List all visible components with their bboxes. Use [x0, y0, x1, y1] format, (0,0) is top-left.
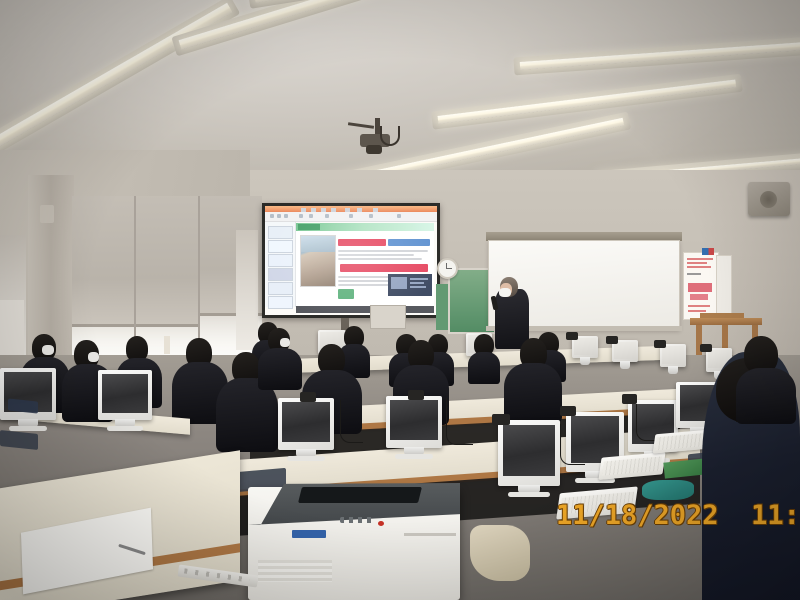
window-blind-1[interactable] [72, 196, 134, 324]
teal-cloth [642, 480, 694, 500]
red-notice-poster [683, 252, 719, 320]
cable [636, 404, 657, 441]
slide-thumbnail[interactable] [268, 268, 293, 281]
wall-speaker [748, 182, 790, 216]
cable [446, 398, 473, 445]
projector-cable [380, 126, 400, 146]
webcam [300, 392, 316, 402]
poster-color-tab [702, 248, 714, 255]
classroom-photo: 11/18/2022 11:53 [0, 0, 800, 600]
cable [340, 400, 363, 443]
slide-header-label [298, 224, 320, 230]
webcam [700, 344, 712, 352]
beige-cloth [470, 525, 530, 581]
webcam [408, 390, 424, 400]
slide-subhead-band-1 [388, 239, 430, 246]
pillar-cap [40, 205, 54, 223]
slide-thumbnail[interactable] [268, 296, 293, 309]
podium-table [690, 318, 762, 325]
projected-slide [265, 206, 437, 315]
monitor-front-2 [386, 396, 442, 448]
printer-output-tray [298, 487, 422, 503]
face-mask-icon [280, 338, 290, 347]
cable [560, 424, 585, 465]
printer-vents [258, 560, 332, 582]
slide-thumbnail[interactable] [268, 254, 293, 267]
slide-headline-band-2 [340, 264, 428, 272]
slide-thumbnail[interactable] [268, 282, 293, 295]
printer-label [292, 530, 326, 538]
webcam [622, 394, 637, 404]
camera-date-stamp: 11/18/2022 11:53 [556, 500, 800, 531]
webcam [654, 340, 666, 348]
slide-content [296, 223, 434, 306]
slide-corner-widget [388, 274, 432, 296]
slide-thumbnail[interactable] [268, 226, 293, 239]
slide-building-photo [300, 235, 336, 287]
secondary-poster [716, 255, 732, 315]
slide-button-green[interactable] [338, 289, 354, 299]
slide-thumbnail-panel [265, 222, 296, 307]
webcam [566, 332, 578, 340]
equipment-box [370, 305, 406, 329]
webcam [492, 414, 510, 425]
monitor-front-1 [278, 398, 334, 450]
slide-taskbar [296, 306, 434, 313]
wall-clock [437, 258, 458, 279]
printer-paper-slot [404, 533, 456, 536]
monitor-front-3 [498, 420, 560, 486]
face-mask-icon [499, 288, 511, 297]
window-blind-2[interactable] [136, 196, 198, 324]
window-right-of-screen [236, 230, 258, 350]
student-right-back-body [736, 368, 796, 424]
face-mask-icon [88, 352, 99, 362]
presenter-body [495, 289, 529, 349]
slide-thumbnail[interactable] [268, 240, 293, 253]
webcam [560, 406, 576, 416]
slide-headline-band-1 [338, 239, 386, 246]
face-mask-icon [42, 345, 54, 355]
printer-control-panel[interactable] [340, 517, 374, 523]
monitor-left-2 [98, 370, 152, 420]
projection-screen [262, 203, 440, 318]
webcam [606, 336, 618, 344]
printer-power-button[interactable] [378, 521, 384, 526]
